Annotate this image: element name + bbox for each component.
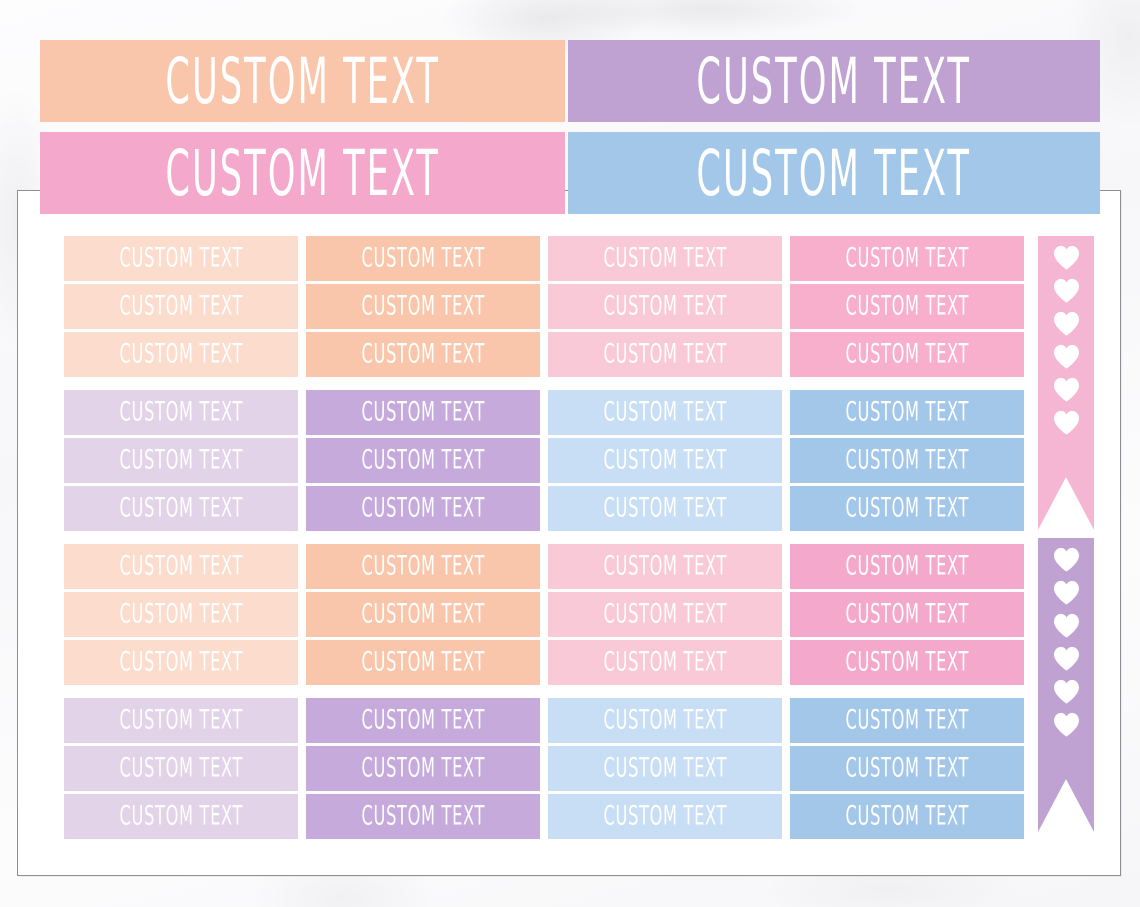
heart-icon xyxy=(1053,646,1080,671)
label-sticker-text: CUSTOM TEXT xyxy=(119,647,242,678)
label-sticker-text: CUSTOM TEXT xyxy=(603,493,726,524)
label-sticker[interactable]: CUSTOM TEXT xyxy=(548,544,782,589)
label-sticker-text: CUSTOM TEXT xyxy=(119,445,242,476)
heart-icon xyxy=(1053,410,1080,435)
label-sticker[interactable]: CUSTOM TEXT xyxy=(64,390,298,435)
label-sticker-text: CUSTOM TEXT xyxy=(845,551,968,582)
label-sticker-text: CUSTOM TEXT xyxy=(845,397,968,428)
group-peach-pink-1: CUSTOM TEXTCUSTOM TEXTCUSTOM TEXTCUSTOM … xyxy=(64,236,1024,377)
label-sticker-text: CUSTOM TEXT xyxy=(845,647,968,678)
label-sticker[interactable]: CUSTOM TEXT xyxy=(548,236,782,281)
label-sticker-text: CUSTOM TEXT xyxy=(845,753,968,784)
label-sticker[interactable]: CUSTOM TEXT xyxy=(306,332,540,377)
banner-bottom-right-label: CUSTOM TEXT xyxy=(697,136,972,210)
label-sticker[interactable]: CUSTOM TEXT xyxy=(548,486,782,531)
banner-bottom-left[interactable]: CUSTOM TEXT xyxy=(40,132,565,214)
banner-top-right-label: CUSTOM TEXT xyxy=(697,44,972,118)
label-sticker-text: CUSTOM TEXT xyxy=(361,339,484,370)
label-sticker[interactable]: CUSTOM TEXT xyxy=(790,746,1024,791)
group-purple-blue-2: CUSTOM TEXTCUSTOM TEXTCUSTOM TEXTCUSTOM … xyxy=(64,698,1024,839)
label-sticker-text: CUSTOM TEXT xyxy=(845,599,968,630)
heart-icon xyxy=(1053,245,1080,270)
label-sticker-text: CUSTOM TEXT xyxy=(361,551,484,582)
heart-icon xyxy=(1053,613,1080,638)
label-sticker[interactable]: CUSTOM TEXT xyxy=(64,794,298,839)
label-sticker-text: CUSTOM TEXT xyxy=(119,801,242,832)
label-sticker-text: CUSTOM TEXT xyxy=(119,753,242,784)
label-sticker[interactable]: CUSTOM TEXT xyxy=(64,544,298,589)
label-sticker[interactable]: CUSTOM TEXT xyxy=(306,236,540,281)
label-sticker-text: CUSTOM TEXT xyxy=(361,397,484,428)
label-row: CUSTOM TEXTCUSTOM TEXTCUSTOM TEXTCUSTOM … xyxy=(64,284,1024,329)
label-sticker[interactable]: CUSTOM TEXT xyxy=(306,794,540,839)
heart-flag-pink[interactable] xyxy=(1038,236,1094,530)
label-row: CUSTOM TEXTCUSTOM TEXTCUSTOM TEXTCUSTOM … xyxy=(64,486,1024,531)
heart-flag-purple[interactable] xyxy=(1038,538,1094,832)
label-sticker[interactable]: CUSTOM TEXT xyxy=(306,544,540,589)
label-sticker[interactable]: CUSTOM TEXT xyxy=(64,746,298,791)
label-sticker-text: CUSTOM TEXT xyxy=(603,599,726,630)
heart-flag-purple-body xyxy=(1038,538,1094,832)
banner-bottom-right[interactable]: CUSTOM TEXT xyxy=(568,132,1100,214)
label-row: CUSTOM TEXTCUSTOM TEXTCUSTOM TEXTCUSTOM … xyxy=(64,438,1024,483)
label-sticker-grid: CUSTOM TEXTCUSTOM TEXTCUSTOM TEXTCUSTOM … xyxy=(64,236,1024,839)
label-row: CUSTOM TEXTCUSTOM TEXTCUSTOM TEXTCUSTOM … xyxy=(64,794,1024,839)
heart-icon xyxy=(1053,278,1080,303)
label-sticker-text: CUSTOM TEXT xyxy=(845,243,968,274)
label-sticker[interactable]: CUSTOM TEXT xyxy=(548,390,782,435)
label-row: CUSTOM TEXTCUSTOM TEXTCUSTOM TEXTCUSTOM … xyxy=(64,236,1024,281)
label-sticker-text: CUSTOM TEXT xyxy=(603,243,726,274)
label-sticker-text: CUSTOM TEXT xyxy=(119,551,242,582)
label-sticker[interactable]: CUSTOM TEXT xyxy=(790,698,1024,743)
group-purple-blue-1: CUSTOM TEXTCUSTOM TEXTCUSTOM TEXTCUSTOM … xyxy=(64,390,1024,531)
label-sticker[interactable]: CUSTOM TEXT xyxy=(306,390,540,435)
label-sticker[interactable]: CUSTOM TEXT xyxy=(64,332,298,377)
label-sticker-text: CUSTOM TEXT xyxy=(845,291,968,322)
label-sticker-text: CUSTOM TEXT xyxy=(603,397,726,428)
label-sticker[interactable]: CUSTOM TEXT xyxy=(548,794,782,839)
label-sticker[interactable]: CUSTOM TEXT xyxy=(790,544,1024,589)
label-sticker[interactable]: CUSTOM TEXT xyxy=(64,640,298,685)
label-sticker[interactable]: CUSTOM TEXT xyxy=(306,640,540,685)
label-sticker[interactable]: CUSTOM TEXT xyxy=(790,236,1024,281)
label-sticker-text: CUSTOM TEXT xyxy=(845,493,968,524)
label-sticker-text: CUSTOM TEXT xyxy=(361,243,484,274)
label-sticker-text: CUSTOM TEXT xyxy=(603,445,726,476)
heart-icon xyxy=(1053,580,1080,605)
label-sticker-text: CUSTOM TEXT xyxy=(603,705,726,736)
label-sticker[interactable]: CUSTOM TEXT xyxy=(306,284,540,329)
sticker-sheet: CUSTOM TEXT CUSTOM TEXT CUSTOM TEXT CUST… xyxy=(0,0,1140,907)
label-sticker[interactable]: CUSTOM TEXT xyxy=(548,698,782,743)
label-sticker[interactable]: CUSTOM TEXT xyxy=(790,640,1024,685)
label-row: CUSTOM TEXTCUSTOM TEXTCUSTOM TEXTCUSTOM … xyxy=(64,592,1024,637)
heart-icon xyxy=(1053,344,1080,369)
label-row: CUSTOM TEXTCUSTOM TEXTCUSTOM TEXTCUSTOM … xyxy=(64,746,1024,791)
label-sticker[interactable]: CUSTOM TEXT xyxy=(548,332,782,377)
label-sticker-text: CUSTOM TEXT xyxy=(845,705,968,736)
label-sticker[interactable]: CUSTOM TEXT xyxy=(306,438,540,483)
label-sticker-text: CUSTOM TEXT xyxy=(845,339,968,370)
label-sticker[interactable]: CUSTOM TEXT xyxy=(790,486,1024,531)
label-sticker[interactable]: CUSTOM TEXT xyxy=(790,332,1024,377)
label-sticker[interactable]: CUSTOM TEXT xyxy=(64,592,298,637)
label-sticker-text: CUSTOM TEXT xyxy=(119,291,242,322)
label-sticker[interactable]: CUSTOM TEXT xyxy=(790,284,1024,329)
label-sticker[interactable]: CUSTOM TEXT xyxy=(790,390,1024,435)
label-sticker[interactable]: CUSTOM TEXT xyxy=(64,236,298,281)
heart-flag-pink-body xyxy=(1038,236,1094,530)
label-sticker[interactable]: CUSTOM TEXT xyxy=(64,698,298,743)
label-row: CUSTOM TEXTCUSTOM TEXTCUSTOM TEXTCUSTOM … xyxy=(64,390,1024,435)
heart-icon xyxy=(1053,679,1080,704)
label-sticker[interactable]: CUSTOM TEXT xyxy=(306,486,540,531)
label-sticker-text: CUSTOM TEXT xyxy=(603,339,726,370)
banner-top-left[interactable]: CUSTOM TEXT xyxy=(40,40,565,122)
label-sticker[interactable]: CUSTOM TEXT xyxy=(790,592,1024,637)
label-sticker-text: CUSTOM TEXT xyxy=(603,801,726,832)
label-sticker[interactable]: CUSTOM TEXT xyxy=(548,746,782,791)
label-sticker[interactable]: CUSTOM TEXT xyxy=(64,438,298,483)
label-sticker[interactable]: CUSTOM TEXT xyxy=(548,592,782,637)
label-sticker-text: CUSTOM TEXT xyxy=(361,753,484,784)
label-sticker[interactable]: CUSTOM TEXT xyxy=(306,746,540,791)
label-sticker-text: CUSTOM TEXT xyxy=(603,291,726,322)
label-sticker-text: CUSTOM TEXT xyxy=(845,801,968,832)
label-sticker-text: CUSTOM TEXT xyxy=(361,801,484,832)
label-sticker[interactable]: CUSTOM TEXT xyxy=(790,438,1024,483)
label-sticker-text: CUSTOM TEXT xyxy=(119,493,242,524)
group-peach-pink-2: CUSTOM TEXTCUSTOM TEXTCUSTOM TEXTCUSTOM … xyxy=(64,544,1024,685)
label-sticker-text: CUSTOM TEXT xyxy=(361,291,484,322)
label-sticker[interactable]: CUSTOM TEXT xyxy=(306,592,540,637)
label-sticker-text: CUSTOM TEXT xyxy=(361,705,484,736)
label-sticker-text: CUSTOM TEXT xyxy=(603,647,726,678)
label-sticker-text: CUSTOM TEXT xyxy=(603,551,726,582)
heart-icon xyxy=(1053,712,1080,737)
label-sticker-text: CUSTOM TEXT xyxy=(361,493,484,524)
label-row: CUSTOM TEXTCUSTOM TEXTCUSTOM TEXTCUSTOM … xyxy=(64,332,1024,377)
label-sticker-text: CUSTOM TEXT xyxy=(119,339,242,370)
label-sticker-text: CUSTOM TEXT xyxy=(361,647,484,678)
label-sticker-text: CUSTOM TEXT xyxy=(119,599,242,630)
label-sticker-text: CUSTOM TEXT xyxy=(845,445,968,476)
banner-bottom-left-label: CUSTOM TEXT xyxy=(165,136,440,210)
label-sticker-text: CUSTOM TEXT xyxy=(119,705,242,736)
label-sticker[interactable]: CUSTOM TEXT xyxy=(548,438,782,483)
label-sticker[interactable]: CUSTOM TEXT xyxy=(548,284,782,329)
heart-icon xyxy=(1053,377,1080,402)
label-sticker-text: CUSTOM TEXT xyxy=(603,753,726,784)
label-sticker-text: CUSTOM TEXT xyxy=(119,243,242,274)
label-sticker[interactable]: CUSTOM TEXT xyxy=(306,698,540,743)
label-sticker[interactable]: CUSTOM TEXT xyxy=(548,640,782,685)
heart-icon xyxy=(1053,547,1080,572)
label-sticker-text: CUSTOM TEXT xyxy=(361,599,484,630)
label-row: CUSTOM TEXTCUSTOM TEXTCUSTOM TEXTCUSTOM … xyxy=(64,544,1024,589)
label-sticker[interactable]: CUSTOM TEXT xyxy=(64,486,298,531)
label-sticker[interactable]: CUSTOM TEXT xyxy=(790,794,1024,839)
label-sticker[interactable]: CUSTOM TEXT xyxy=(64,284,298,329)
label-row: CUSTOM TEXTCUSTOM TEXTCUSTOM TEXTCUSTOM … xyxy=(64,698,1024,743)
banner-top-right[interactable]: CUSTOM TEXT xyxy=(568,40,1100,122)
label-sticker-text: CUSTOM TEXT xyxy=(361,445,484,476)
label-row: CUSTOM TEXTCUSTOM TEXTCUSTOM TEXTCUSTOM … xyxy=(64,640,1024,685)
banner-top-left-label: CUSTOM TEXT xyxy=(165,44,440,118)
label-sticker-text: CUSTOM TEXT xyxy=(119,397,242,428)
heart-icon xyxy=(1053,311,1080,336)
